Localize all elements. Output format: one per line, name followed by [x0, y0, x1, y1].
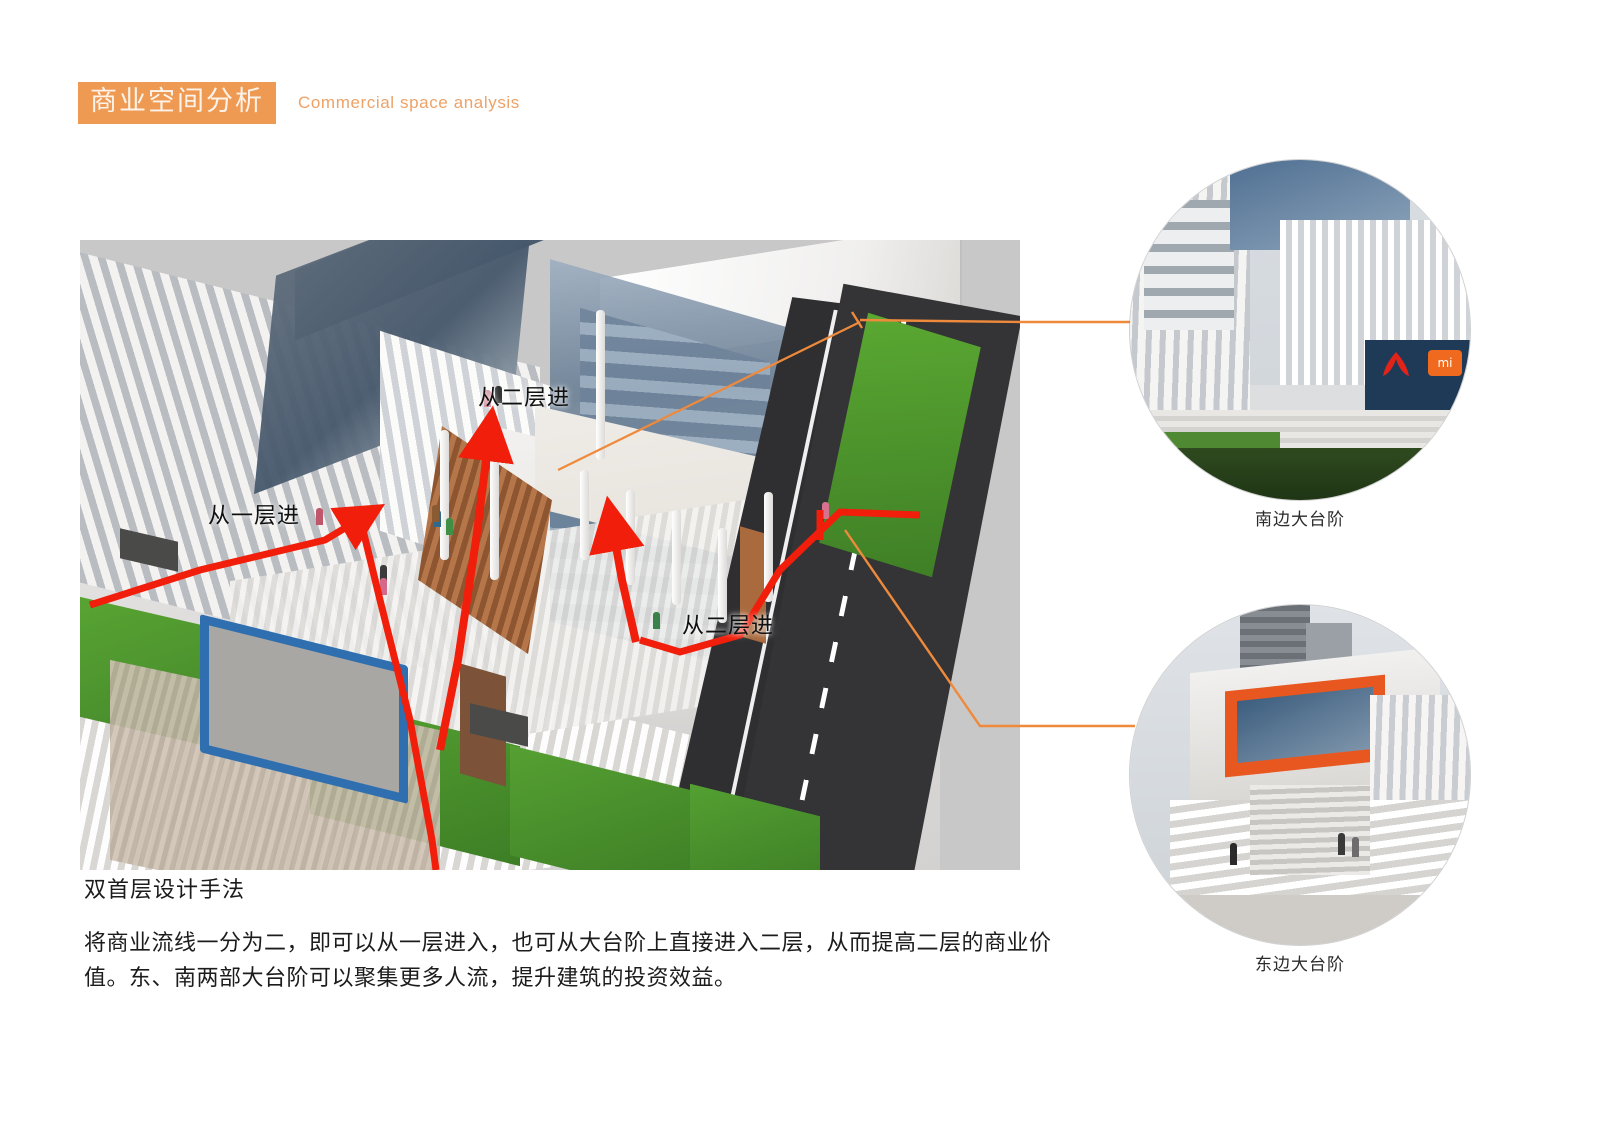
render-person	[822, 502, 829, 519]
page-title-cn: 商业空间分析	[78, 82, 276, 124]
render-person	[432, 505, 439, 522]
render-column	[580, 470, 589, 560]
label-entry-from-level1: 从一层进	[208, 498, 300, 530]
main-render-image: 从一层进 从二层进 从二层进	[80, 240, 1020, 870]
mi-logo-icon: mi	[1428, 350, 1462, 376]
page-title-en: Commercial space analysis	[298, 93, 520, 113]
photo-stair-flight	[1250, 785, 1370, 875]
callout-photo-east-grand-stair	[1130, 605, 1470, 945]
render-person	[380, 578, 387, 595]
label-entry-from-level2-b: 从二层进	[682, 608, 774, 640]
render-person	[446, 518, 453, 535]
photo-person	[1230, 843, 1237, 865]
description-heading: 双首层设计手法	[84, 872, 245, 904]
render-column	[672, 510, 681, 605]
photo-hedge	[1130, 448, 1470, 500]
render-column	[764, 492, 773, 602]
photo-person	[1352, 837, 1359, 857]
photo-ground-plane	[1130, 895, 1470, 945]
render-person	[653, 612, 660, 629]
photo-person	[1338, 833, 1345, 855]
page-title: 商业空间分析 Commercial space analysis	[78, 82, 520, 124]
render-column	[490, 450, 499, 580]
label-entry-from-level2-a: 从二层进	[478, 380, 570, 412]
huawei-logo-icon	[1373, 350, 1419, 380]
caption-south-grand-stair: 南边大台阶	[1130, 505, 1470, 530]
render-column	[626, 490, 635, 585]
caption-east-grand-stair: 东边大台阶	[1130, 950, 1470, 975]
render-column	[596, 310, 605, 460]
callout-photo-south-grand-stair: mi	[1130, 160, 1470, 500]
presentation-board: 商业空间分析 Commercial space analysis	[0, 0, 1610, 1145]
render-column	[440, 430, 449, 560]
description-body: 将商业流线一分为二，即可以从一层进入，也可从大台阶上直接进入二层，从而提高二层的…	[84, 925, 1074, 995]
photo-left-windows	[1144, 200, 1234, 330]
render-person	[316, 508, 323, 525]
